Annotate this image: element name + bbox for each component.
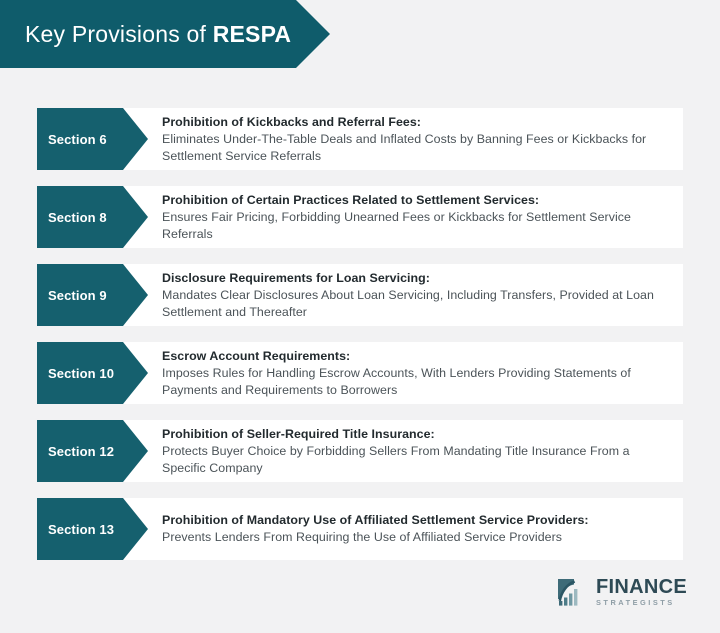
header-banner: Key Provisions of RESPA [0, 0, 330, 68]
provisions-list: Section 6 Prohibition of Kickbacks and R… [0, 108, 720, 576]
row-heading: Prohibition of Kickbacks and Referral Fe… [162, 114, 667, 131]
section-tag-label: Section 12 [37, 444, 114, 459]
row-heading: Prohibition of Seller-Required Title Ins… [162, 426, 667, 443]
list-item: Section 13 Prohibition of Mandatory Use … [0, 498, 720, 560]
row-text: Prohibition of Seller-Required Title Ins… [162, 420, 667, 482]
section-tag-label: Section 13 [37, 522, 114, 537]
row-description: Mandates Clear Disclosures About Loan Se… [162, 287, 667, 321]
section-tag-label: Section 10 [37, 366, 114, 381]
row-description: Protects Buyer Choice by Forbidding Sell… [162, 443, 667, 477]
list-item: Section 8 Prohibition of Certain Practic… [0, 186, 720, 248]
section-tag-label: Section 8 [37, 210, 107, 225]
page-title-prefix: Key Provisions of [25, 21, 213, 47]
row-text: Prohibition of Kickbacks and Referral Fe… [162, 108, 667, 170]
section-tag-label: Section 9 [37, 288, 107, 303]
logo-name: FINANCE [596, 577, 687, 597]
row-description: Ensures Fair Pricing, Forbidding Unearne… [162, 209, 667, 243]
row-text: Prohibition of Certain Practices Related… [162, 186, 667, 248]
row-heading: Escrow Account Requirements: [162, 348, 667, 365]
list-item: Section 10 Escrow Account Requirements: … [0, 342, 720, 404]
row-text: Prohibition of Mandatory Use of Affiliat… [162, 498, 667, 560]
row-heading: Prohibition of Certain Practices Related… [162, 192, 667, 209]
row-description: Prevents Lenders From Requiring the Use … [162, 529, 667, 546]
row-heading: Disclosure Requirements for Loan Servici… [162, 270, 667, 287]
row-heading: Prohibition of Mandatory Use of Affiliat… [162, 512, 667, 529]
bar-chart-arc-icon [557, 577, 589, 607]
page-title-strong: RESPA [213, 21, 292, 47]
section-tag-label: Section 6 [37, 132, 107, 147]
row-text: Escrow Account Requirements: Imposes Rul… [162, 342, 667, 404]
row-description: Eliminates Under-The-Table Deals and Inf… [162, 131, 667, 165]
list-item: Section 9 Disclosure Requirements for Lo… [0, 264, 720, 326]
list-item: Section 12 Prohibition of Seller-Require… [0, 420, 720, 482]
logo-subtitle: STRATEGISTS [596, 599, 687, 606]
row-text: Disclosure Requirements for Loan Servici… [162, 264, 667, 326]
list-item: Section 6 Prohibition of Kickbacks and R… [0, 108, 720, 170]
page-title: Key Provisions of RESPA [0, 21, 291, 48]
logo-text: FINANCE STRATEGISTS [596, 577, 687, 606]
brand-logo: FINANCE STRATEGISTS [557, 577, 687, 607]
row-description: Imposes Rules for Handling Escrow Accoun… [162, 365, 667, 399]
